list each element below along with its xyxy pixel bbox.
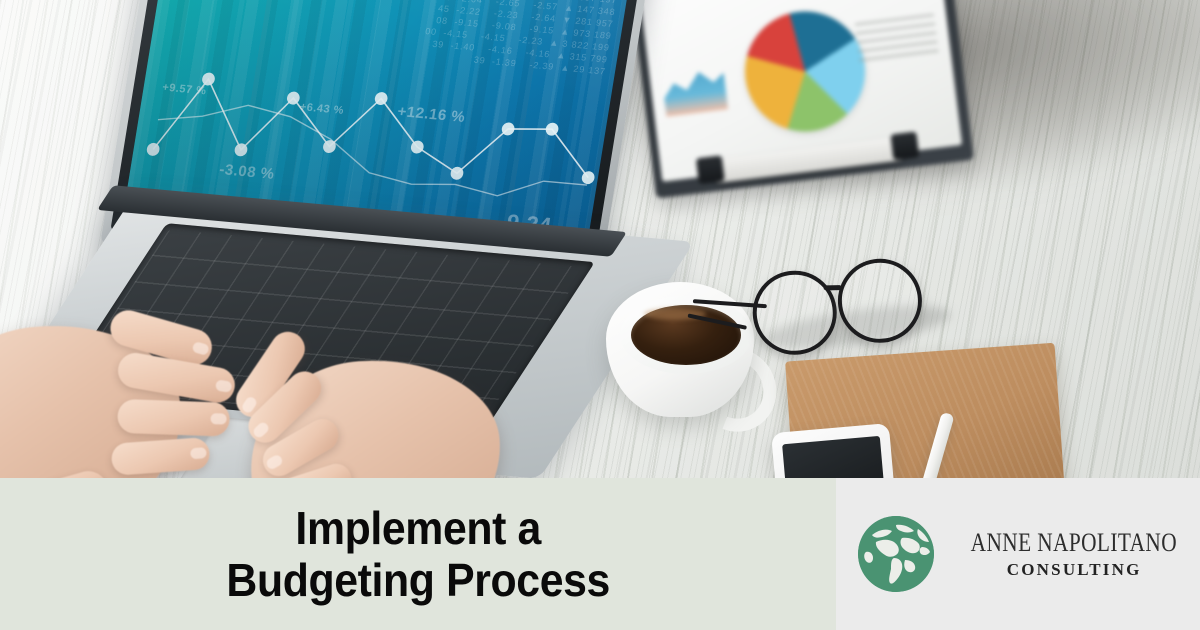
left-finger-4 — [111, 437, 211, 476]
brand-logo[interactable]: ANNE NAPOLITANO CONSULTING — [858, 516, 1200, 592]
glasses-bridge — [824, 285, 842, 290]
mini-area-chart — [661, 64, 728, 117]
phone-screen — [782, 436, 887, 480]
page-title: Implement a Budgeting Process — [226, 502, 610, 606]
coffee-cup — [600, 272, 760, 422]
logo-wordmark: ANNE NAPOLITANO CONSULTING — [948, 530, 1200, 578]
logo-panel: ANNE NAPOLITANO CONSULTING — [836, 478, 1200, 630]
smartphone — [771, 423, 897, 480]
left-finger-3 — [117, 399, 230, 437]
logo-subtitle: CONSULTING — [1007, 561, 1142, 578]
paper-text-lines — [855, 13, 939, 62]
right-hand — [223, 330, 538, 480]
left-hand — [0, 275, 261, 480]
title-line-2: Budgeting Process — [226, 554, 610, 606]
promo-graphic: 53 -1.47 27.50 27.60 27.64 168 617 99 -1… — [0, 0, 1200, 630]
logo-name: ANNE NAPOLITANO — [971, 530, 1177, 556]
hero-photo: 53 -1.47 27.50 27.60 27.64 168 617 99 -1… — [0, 0, 1200, 480]
title-line-1: Implement a — [295, 502, 541, 554]
pie-chart — [738, 5, 872, 139]
title-banner: Implement a Budgeting Process — [0, 478, 1200, 630]
title-panel: Implement a Budgeting Process — [0, 478, 836, 630]
globe-icon — [858, 516, 934, 592]
